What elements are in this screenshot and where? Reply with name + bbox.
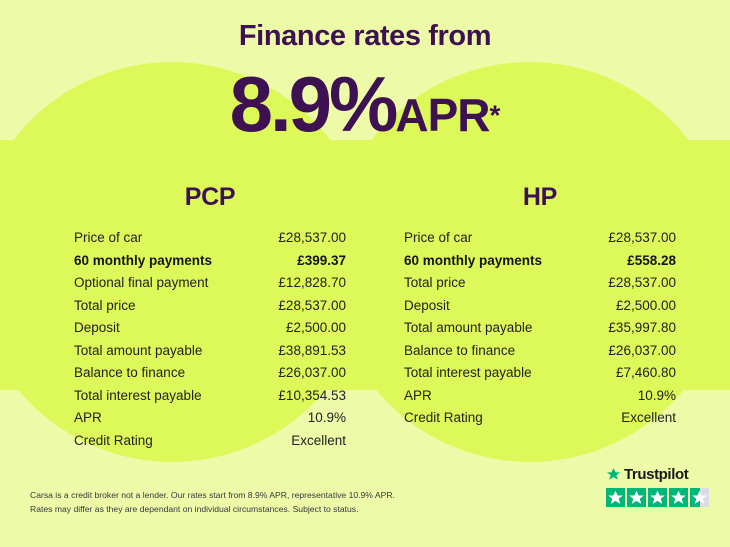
table-row: Price of car£28,537.00 [404,230,676,253]
row-value: £12,828.70 [278,275,346,290]
row-label: Optional final payment [74,275,208,290]
table-row: Price of car£28,537.00 [74,230,346,253]
legal-disclaimer-line-2: Rates may differ as they are dependant o… [30,503,450,517]
trustpilot-star-rating [606,488,716,507]
row-label: Deposit [74,320,120,335]
table-row: APR10.9% [404,388,676,411]
trustpilot-star-icon [606,467,621,482]
headline-rate: 8.9%APR* [0,51,730,143]
row-value: £10,354.53 [278,388,346,403]
trustpilot-star-full [627,488,646,507]
row-label: Deposit [404,298,450,313]
table-row: Total amount payable£38,891.53 [74,343,346,366]
row-value: £2,500.00 [616,298,676,313]
row-value: £28,537.00 [608,230,676,245]
row-label: 60 monthly payments [404,253,542,268]
legal-disclaimer-line-1: Carsa is a credit broker not a lender. O… [30,489,450,503]
row-label: APR [404,388,432,403]
row-label: Total price [404,275,466,290]
row-value: £558.28 [627,253,676,268]
plan-pcp-title: PCP [60,183,360,212]
row-value: £7,460.80 [616,365,676,380]
row-value: £399.37 [297,253,346,268]
rate-percentage: 8.9% [230,60,396,148]
page-title: Finance rates from [0,0,730,51]
row-label: Total amount payable [404,320,532,335]
trustpilot-wordmark: Trustpilot [606,466,716,483]
table-row: Optional final payment£12,828.70 [74,275,346,298]
row-value: Excellent [291,433,346,448]
row-value: £2,500.00 [286,320,346,335]
table-row: 60 monthly payments£558.28 [404,253,676,276]
legal-disclaimer: Carsa is a credit broker not a lender. O… [30,489,450,517]
row-label: Total interest payable [404,365,532,380]
row-label: Total amount payable [74,343,202,358]
row-label: Price of car [404,230,472,245]
row-label: Total interest payable [74,388,202,403]
row-label: 60 monthly payments [74,253,212,268]
table-row: Total interest payable£7,460.80 [404,365,676,388]
trustpilot-wordmark-text: Trustpilot [624,466,688,483]
rate-asterisk: * [490,100,501,131]
table-row: Total amount payable£35,997.80 [404,320,676,343]
row-value: £28,537.00 [278,298,346,313]
finance-rates-banner: Finance rates from 8.9%APR* PCP Price of… [0,0,730,547]
trustpilot-star-full [669,488,688,507]
table-row: Total price£28,537.00 [74,298,346,321]
row-label: Total price [74,298,136,313]
header: Finance rates from 8.9%APR* [0,0,730,143]
table-row: Credit RatingExcellent [404,410,676,433]
trustpilot-star-half [690,488,709,507]
table-row: Balance to finance£26,037.00 [404,343,676,366]
row-label: Balance to finance [404,343,515,358]
trustpilot-badge[interactable]: Trustpilot [606,466,716,507]
row-value: £26,037.00 [608,343,676,358]
row-value: £35,997.80 [608,320,676,335]
plan-hp-title: HP [390,183,690,212]
rate-apr-label: APR [395,89,489,141]
plan-pcp-rows: Price of car£28,537.0060 monthly payment… [74,230,346,455]
row-value: 10.9% [638,388,676,403]
row-label: APR [74,410,102,425]
row-value: 10.9% [308,410,346,425]
table-row: APR10.9% [74,410,346,433]
plan-hp-rows: Price of car£28,537.0060 monthly payment… [404,230,676,433]
row-label: Credit Rating [404,410,483,425]
row-label: Balance to finance [74,365,185,380]
plan-pcp: PCP Price of car£28,537.0060 monthly pay… [60,183,360,455]
table-row: 60 monthly payments£399.37 [74,253,346,276]
row-value: £38,891.53 [278,343,346,358]
table-row: Credit RatingExcellent [74,433,346,456]
table-row: Deposit£2,500.00 [74,320,346,343]
row-value: £26,037.00 [278,365,346,380]
row-label: Credit Rating [74,433,153,448]
table-row: Total interest payable£10,354.53 [74,388,346,411]
table-row: Balance to finance£26,037.00 [74,365,346,388]
row-value: Excellent [621,410,676,425]
trustpilot-star-full [648,488,667,507]
row-value: £28,537.00 [608,275,676,290]
trustpilot-star-full [606,488,625,507]
row-label: Price of car [74,230,142,245]
plan-hp: HP Price of car£28,537.0060 monthly paym… [390,183,690,433]
table-row: Deposit£2,500.00 [404,298,676,321]
row-value: £28,537.00 [278,230,346,245]
table-row: Total price£28,537.00 [404,275,676,298]
